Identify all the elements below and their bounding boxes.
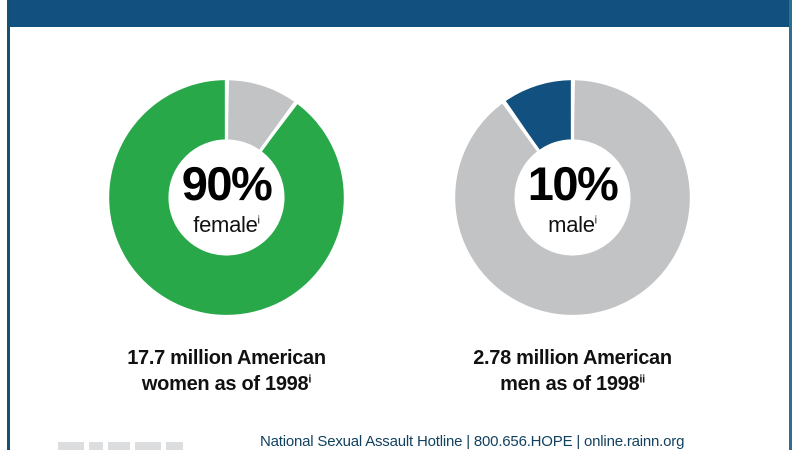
caption-male: 2.78 million American men as of 1998ii bbox=[473, 346, 672, 397]
charts-row: 90% femalei 17.7 million American women … bbox=[10, 32, 789, 392]
caption-female-note: i bbox=[308, 373, 311, 385]
chart-block-female: 90% femalei 17.7 million American women … bbox=[62, 32, 392, 397]
donut-male-svg bbox=[454, 79, 691, 316]
donut-chart-female: 90% femalei bbox=[108, 79, 345, 316]
caption-female: 17.7 million American women as of 1998i bbox=[127, 346, 326, 397]
chart-block-male: 10% malei 2.78 million American men as o… bbox=[408, 32, 738, 397]
header-bar bbox=[10, 0, 791, 27]
caption-female-line2: women as of 1998 bbox=[142, 373, 308, 395]
slide-canvas: 90% femalei 17.7 million American women … bbox=[0, 0, 800, 450]
organization-logo bbox=[58, 442, 188, 450]
caption-male-line1: 2.78 million American bbox=[473, 347, 672, 369]
right-edge-border bbox=[789, 0, 792, 450]
caption-female-line1: 17.7 million American bbox=[127, 347, 326, 369]
footer: National Sexual Assault Hotline | 800.65… bbox=[10, 433, 789, 450]
footer-hotline-text: National Sexual Assault Hotline | 800.65… bbox=[260, 433, 684, 450]
donut-female-svg bbox=[108, 79, 345, 316]
caption-male-note: ii bbox=[639, 373, 645, 385]
caption-male-line2: men as of 1998 bbox=[500, 373, 639, 395]
donut-chart-male: 10% malei bbox=[454, 79, 691, 316]
